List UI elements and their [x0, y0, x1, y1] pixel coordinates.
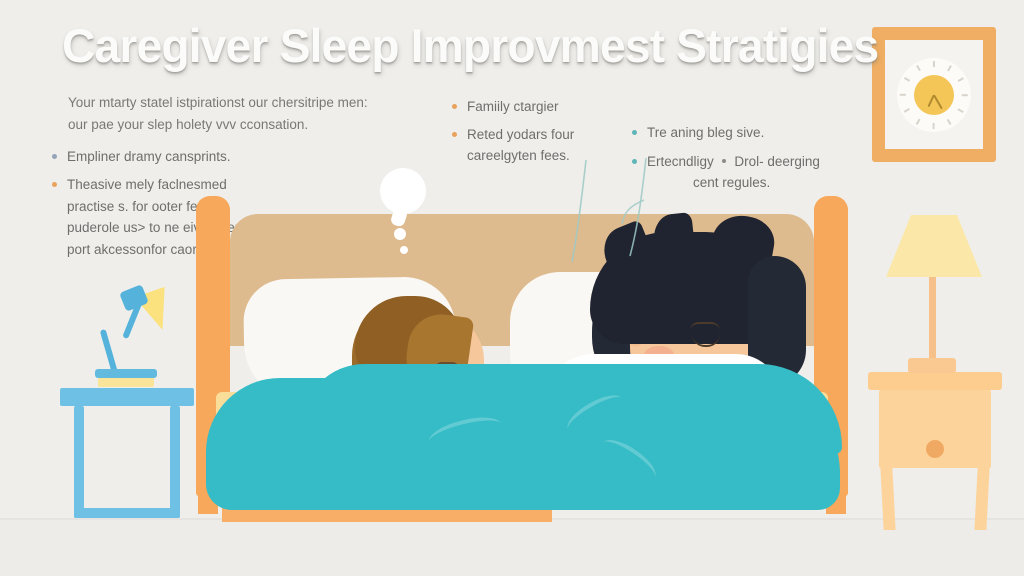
desk-lamp-base: [95, 369, 157, 378]
table-lamp-shade: [886, 215, 982, 277]
clock-hub: [914, 75, 954, 115]
nightstand-drawer-knob: [926, 440, 944, 458]
side-table-leg: [74, 406, 84, 518]
nightstand-top: [868, 372, 1002, 390]
nightstand-leg: [974, 468, 989, 530]
bullet-list-left-top: Empliner dramy cansprints.: [52, 146, 302, 168]
clock-face: [897, 58, 971, 132]
list-item-compound: Ertecndligy Drol- deerging cent regules.: [632, 151, 852, 194]
table-lamp-neck: [929, 274, 936, 360]
nightstand-right: [868, 372, 1002, 530]
thought-bubble-dot: [394, 228, 406, 240]
table-lamp-base: [908, 358, 956, 373]
clock-inner-panel: [885, 40, 983, 149]
wall-clock: [872, 27, 996, 162]
list-item: Tre aning bleg sive.: [632, 122, 852, 144]
thought-bubble-dot: [400, 246, 408, 254]
list-item: Famiily ctargier: [452, 96, 617, 118]
side-table-brace: [74, 508, 180, 518]
desk-lamp-lower-arm: [100, 329, 118, 374]
nightstand-leg: [880, 468, 895, 530]
list-item: Reted yodars four careelgyten fees.: [452, 124, 617, 167]
man-hair-tuft: [651, 212, 696, 268]
side-table-top: [60, 388, 194, 406]
man-eyebrow: [690, 322, 720, 331]
inline-bullet-dot: [722, 159, 726, 163]
list-item: Empliner dramy cansprints.: [52, 146, 302, 168]
thought-bubble: [380, 168, 426, 214]
intro-text: Your mtarty statel istpirationst our che…: [68, 92, 398, 136]
bullet-list-middle: Famiily ctargier Reted yodars four caree…: [452, 96, 617, 173]
side-table-left: [60, 388, 194, 518]
side-table-leg: [170, 406, 180, 518]
list-item-part-b: Drol- deerging: [734, 154, 820, 169]
book: [98, 377, 154, 387]
page-title: Caregiver Sleep Improvmest Stratigies: [62, 18, 878, 74]
bullet-list-right: Tre aning bleg sive. Ertecndligy Drol- d…: [632, 122, 852, 201]
blanket: [206, 378, 840, 510]
list-item-part-c: cent regules.: [647, 172, 852, 194]
nightstand-drawer: [879, 390, 991, 468]
intro-line-1: Your mtarty statel istpirationst our che…: [68, 92, 398, 114]
list-item-part-a: Ertecndligy: [647, 154, 714, 169]
infographic-canvas: Caregiver Sleep Improvmest Stratigies Yo…: [0, 0, 1024, 576]
intro-line-2: our pae your slep holety vvv cconsation.: [68, 114, 398, 136]
bed: [192, 196, 852, 526]
clock-minute-hand: [933, 94, 943, 109]
